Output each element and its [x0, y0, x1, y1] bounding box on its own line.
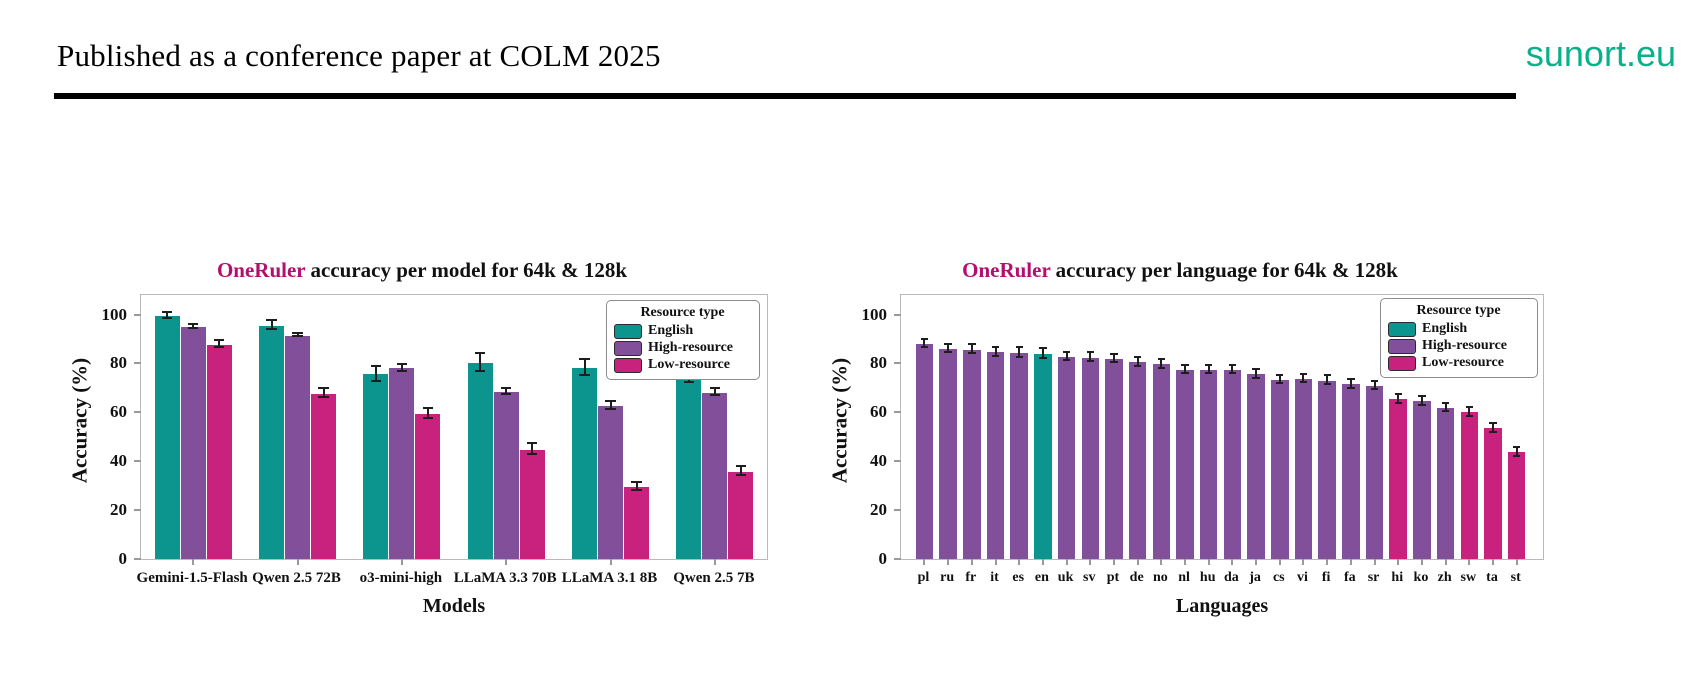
x-tick-mark	[1302, 559, 1304, 565]
error-bar-cap-bottom	[423, 417, 434, 419]
x-tick-label-language: fi	[1322, 570, 1331, 586]
bar-low-resource	[520, 450, 545, 559]
bar-lang-zh	[1437, 408, 1455, 559]
x-tick-mark	[1516, 559, 1518, 565]
y-tick-label: 20	[851, 500, 887, 520]
bar-low-resource	[624, 487, 649, 559]
header-divider	[54, 93, 1516, 99]
x-tick-label-model: Qwen 2.5 72B	[252, 570, 341, 587]
error-bar-cap-bottom	[1324, 383, 1331, 385]
x-tick-label-language: uk	[1058, 570, 1074, 586]
error-bar-cap-top	[736, 465, 747, 467]
error-bar-cap-bottom	[188, 327, 199, 329]
error-bar-cap-top	[266, 319, 277, 321]
y-tick-label: 0	[851, 549, 887, 569]
bar-lang-sv	[1082, 358, 1100, 559]
error-bar-cap-top	[710, 387, 721, 389]
x-tick-mark	[297, 559, 299, 565]
y-tick-mark	[894, 460, 901, 462]
legend-swatch-icon	[1388, 339, 1416, 354]
x-tick-mark	[1397, 559, 1399, 565]
error-bar-cap-top	[1181, 364, 1188, 366]
error-bar-cap-top	[1039, 347, 1046, 349]
x-tick-label-language: es	[1012, 570, 1024, 586]
x-tick-label-language: en	[1035, 570, 1049, 586]
x-tick-mark	[505, 559, 507, 565]
y-tick-mark	[894, 509, 901, 511]
error-bar-cap-top	[1016, 346, 1023, 348]
bar-lang-hi	[1389, 399, 1407, 559]
x-tick-label-language: zh	[1438, 570, 1452, 586]
error-bar-cap-bottom	[1395, 402, 1402, 404]
bar-lang-sr	[1366, 386, 1384, 559]
bar-lang-uk	[1058, 357, 1076, 559]
error-bar-cap-top	[1324, 374, 1331, 376]
error-bar-cap-top	[475, 352, 486, 354]
bar-lang-ru	[939, 349, 957, 559]
legend-swatch-icon	[614, 341, 642, 356]
error-bar-cap-bottom	[162, 317, 173, 319]
x-tick-label-model: Gemini-1.5-Flash	[137, 570, 248, 587]
error-bar-cap-bottom	[684, 381, 695, 383]
x-tick-label-language: ta	[1486, 570, 1498, 586]
error-bar-cap-bottom	[631, 489, 642, 491]
error-bar-cap-bottom	[1063, 359, 1070, 361]
x-tick-label-model: o3-mini-high	[360, 570, 443, 587]
error-bar-cap-bottom	[1229, 372, 1236, 374]
bar-lang-ko	[1413, 401, 1431, 559]
figure-accuracy-per-model: OneRuler accuracy per model for 64k & 12…	[52, 258, 792, 618]
x-tick-mark	[947, 559, 949, 565]
legend-title: Resource type	[1388, 303, 1529, 319]
error-bar-cap-top	[1110, 353, 1117, 355]
y-axis-title-languages: Accuracy (%)	[828, 331, 853, 511]
bar-english	[676, 376, 701, 559]
error-bar-cap-bottom	[1513, 455, 1520, 457]
bar-lang-en	[1034, 354, 1052, 559]
error-bar-cap-bottom	[1442, 410, 1449, 412]
x-tick-label-language: hu	[1200, 570, 1216, 586]
error-bar-cap-bottom	[1466, 415, 1473, 417]
legend-swatch-icon	[614, 358, 642, 373]
y-tick-label: 40	[851, 451, 887, 471]
legend-item-label: High-resource	[648, 340, 733, 356]
error-bar-cap-bottom	[605, 408, 616, 410]
error-bar-cap-bottom	[266, 328, 277, 330]
y-tick-label: 20	[91, 500, 127, 520]
error-bar-cap-top	[1300, 373, 1307, 375]
error-bar-cap-bottom	[710, 394, 721, 396]
figure-title-brand: OneRuler	[962, 258, 1050, 282]
x-tick-label-language: da	[1224, 570, 1239, 586]
y-tick-label: 80	[851, 353, 887, 373]
x-tick-label-model: LLaMA 3.1 8B	[562, 570, 657, 587]
x-tick-mark	[1255, 559, 1257, 565]
y-axis-title-models: Accuracy (%)	[68, 331, 93, 511]
bar-lang-pt	[1105, 359, 1123, 559]
bar-lang-de	[1129, 362, 1147, 559]
bar-low-resource	[207, 345, 232, 559]
bar-low-resource	[415, 414, 440, 559]
error-bar-cap-top	[1229, 364, 1236, 366]
legend-item-english[interactable]: English	[614, 323, 751, 339]
bar-high-resource	[494, 392, 519, 559]
x-tick-label-language: fa	[1344, 570, 1356, 586]
x-tick-mark	[1089, 559, 1091, 565]
bar-lang-pl	[916, 344, 934, 559]
bar-high-resource	[181, 327, 206, 559]
y-tick-mark	[894, 314, 901, 316]
legend-swatch-icon	[1388, 356, 1416, 371]
error-bar-cap-top	[214, 339, 225, 341]
y-tick-label: 60	[851, 402, 887, 422]
x-tick-label-language: hi	[1391, 570, 1403, 586]
legend-item-low-resource[interactable]: Low-resource	[1388, 355, 1529, 371]
x-tick-label-language: sr	[1368, 570, 1380, 586]
legend-item-label: Low-resource	[648, 357, 730, 373]
x-tick-mark	[1208, 559, 1210, 565]
error-bar-cap-bottom	[1039, 357, 1046, 359]
bar-english	[363, 374, 388, 559]
y-tick-mark	[134, 509, 141, 511]
legend-item-english[interactable]: English	[1388, 321, 1529, 337]
error-bar-cap-bottom	[292, 335, 303, 337]
legend-item-label: English	[1422, 321, 1467, 337]
error-bar-cap-bottom	[944, 351, 951, 353]
x-tick-mark	[971, 559, 973, 565]
bar-high-resource	[389, 368, 414, 559]
error-bar-cap-bottom	[1371, 388, 1378, 390]
y-tick-label: 60	[91, 402, 127, 422]
figure-title-rest: accuracy per model for 64k & 128k	[305, 258, 627, 282]
bar-lang-st	[1508, 452, 1526, 559]
error-bar-cap-top	[397, 363, 408, 365]
error-bar-cap-top	[1252, 368, 1259, 370]
error-bar-cap-bottom	[992, 355, 999, 357]
error-bar-cap-bottom	[475, 370, 486, 372]
x-tick-mark	[714, 559, 716, 565]
bar-lang-ja	[1247, 374, 1265, 559]
error-bar-cap-top	[1347, 378, 1354, 380]
bar-lang-cs	[1271, 380, 1289, 559]
x-tick-mark	[1113, 559, 1115, 565]
page-title: Published as a conference paper at COLM …	[57, 38, 661, 74]
x-axis-title-models: Models	[140, 595, 768, 618]
bar-low-resource	[311, 394, 336, 559]
y-tick-mark	[894, 558, 901, 560]
y-tick-mark	[894, 411, 901, 413]
figure-title-brand: OneRuler	[217, 258, 305, 282]
x-tick-label-language: de	[1130, 570, 1144, 586]
error-bar-cap-top	[1158, 358, 1165, 360]
x-tick-label-language: pt	[1107, 570, 1119, 586]
y-tick-label: 80	[91, 353, 127, 373]
bar-english	[259, 326, 284, 559]
bar-lang-sw	[1461, 412, 1479, 559]
x-tick-label-model: Qwen 2.5 7B	[673, 570, 754, 587]
x-tick-label-language: ru	[940, 570, 954, 586]
error-bar-cap-top	[944, 343, 951, 345]
y-tick-mark	[134, 314, 141, 316]
x-tick-label-language: no	[1153, 570, 1168, 586]
x-tick-mark	[610, 559, 612, 565]
bar-english	[155, 316, 180, 559]
x-tick-label-language: fr	[965, 570, 976, 586]
y-tick-mark	[134, 460, 141, 462]
legend-languages: Resource typeEnglishHigh-resourceLow-res…	[1380, 298, 1538, 378]
x-axis-title-languages: Languages	[900, 595, 1544, 618]
error-bar-cap-bottom	[1087, 360, 1094, 362]
bar-high-resource	[285, 336, 310, 559]
legend-item-label: Low-resource	[1422, 355, 1504, 371]
bar-lang-nl	[1176, 370, 1194, 559]
x-tick-mark	[192, 559, 194, 565]
error-bar-cap-top	[631, 481, 642, 483]
error-bar-cap-top	[605, 400, 616, 402]
page-header: Published as a conference paper at COLM …	[0, 0, 1704, 110]
figure-accuracy-per-language: OneRuler accuracy per language for 64k &…	[800, 258, 1560, 618]
error-bar-cap-bottom	[501, 393, 512, 395]
x-tick-mark	[401, 559, 403, 565]
bar-lang-es	[1010, 353, 1028, 559]
x-tick-mark	[1160, 559, 1162, 565]
legend-models: Resource typeEnglishHigh-resourceLow-res…	[606, 300, 760, 380]
x-tick-mark	[1018, 559, 1020, 565]
x-tick-mark	[995, 559, 997, 565]
x-tick-label-language: st	[1511, 570, 1521, 586]
error-bar-cap-top	[162, 311, 173, 313]
x-tick-mark	[1042, 559, 1044, 565]
x-tick-mark	[1468, 559, 1470, 565]
error-bar-cap-top	[1466, 406, 1473, 408]
bar-high-resource	[598, 406, 623, 559]
error-bar-cap-bottom	[1347, 387, 1354, 389]
bar-english	[572, 368, 597, 559]
legend-item-high-resource[interactable]: High-resource	[614, 340, 751, 356]
x-tick-mark	[1137, 559, 1139, 565]
error-bar-cap-top	[371, 365, 382, 367]
error-bar-cap-top	[1418, 395, 1425, 397]
error-bar-cap-top	[527, 442, 538, 444]
x-tick-mark	[1184, 559, 1186, 565]
error-bar-cap-bottom	[1489, 431, 1496, 433]
site-logo: sunort.eu	[1526, 33, 1676, 75]
error-bar-cap-top	[292, 332, 303, 334]
y-tick-mark	[894, 362, 901, 364]
x-tick-mark	[1350, 559, 1352, 565]
y-tick-label: 0	[91, 549, 127, 569]
error-bar-cap-top	[968, 343, 975, 345]
bar-english	[468, 363, 493, 559]
error-bar-cap-bottom	[1205, 372, 1212, 374]
legend-swatch-icon	[1388, 322, 1416, 337]
error-bar-cap-top	[1276, 374, 1283, 376]
x-tick-mark	[1231, 559, 1233, 565]
error-bar-cap-bottom	[1158, 367, 1165, 369]
x-tick-label-language: sv	[1083, 570, 1095, 586]
bar-lang-fi	[1318, 381, 1336, 559]
error-bar-cap-bottom	[1276, 382, 1283, 384]
legend-item-label: English	[648, 323, 693, 339]
x-tick-mark	[1374, 559, 1376, 565]
figure-title-languages: OneRuler accuracy per language for 64k &…	[800, 258, 1560, 283]
error-bar-cap-top	[188, 323, 199, 325]
error-bar-cap-bottom	[579, 374, 590, 376]
x-tick-label-language: vi	[1297, 570, 1308, 586]
error-bar-cap-bottom	[1181, 372, 1188, 374]
bar-lang-ta	[1484, 428, 1502, 559]
y-tick-mark	[134, 411, 141, 413]
error-bar-cap-bottom	[527, 453, 538, 455]
error-bar-cap-top	[1371, 380, 1378, 382]
error-bar-cap-top	[1513, 446, 1520, 448]
legend-item-low-resource[interactable]: Low-resource	[614, 357, 751, 373]
error-bar-cap-bottom	[968, 352, 975, 354]
legend-item-label: High-resource	[1422, 338, 1507, 354]
x-tick-label-model: LLaMA 3.3 70B	[454, 570, 557, 587]
x-tick-mark	[1492, 559, 1494, 565]
bar-lang-vi	[1295, 379, 1313, 559]
y-tick-mark	[134, 362, 141, 364]
error-bar-cap-bottom	[318, 396, 329, 398]
x-tick-mark	[1421, 559, 1423, 565]
error-bar-cap-top	[579, 358, 590, 360]
x-tick-mark	[923, 559, 925, 565]
y-tick-label: 40	[91, 451, 127, 471]
x-tick-mark	[1445, 559, 1447, 565]
error-bar-cap-bottom	[214, 346, 225, 348]
error-bar-cap-bottom	[1134, 365, 1141, 367]
error-bar-cap-top	[1442, 402, 1449, 404]
bar-low-resource	[728, 472, 753, 560]
legend-title: Resource type	[614, 305, 751, 321]
error-bar-cap-top	[1205, 364, 1212, 366]
bar-lang-fr	[963, 350, 981, 559]
error-bar-cap-bottom	[1418, 404, 1425, 406]
figure-title-models: OneRuler accuracy per model for 64k & 12…	[52, 258, 792, 283]
x-tick-label-language: cs	[1273, 570, 1285, 586]
legend-item-high-resource[interactable]: High-resource	[1388, 338, 1529, 354]
error-bar-cap-bottom	[736, 474, 747, 476]
bar-lang-hu	[1200, 370, 1218, 559]
error-bar-cap-top	[1063, 351, 1070, 353]
bar-lang-no	[1153, 364, 1171, 559]
figure-title-rest: accuracy per language for 64k & 128k	[1050, 258, 1397, 282]
error-bar-cap-bottom	[397, 370, 408, 372]
error-bar-cap-bottom	[1110, 361, 1117, 363]
x-tick-label-language: ja	[1249, 570, 1261, 586]
error-bar-cap-bottom	[1252, 377, 1259, 379]
error-bar-cap-top	[501, 387, 512, 389]
x-tick-label-language: pl	[918, 570, 930, 586]
bar-lang-fa	[1342, 384, 1360, 559]
error-bar-cap-top	[318, 387, 329, 389]
error-bar-cap-top	[921, 338, 928, 340]
legend-swatch-icon	[614, 324, 642, 339]
error-bar-cap-bottom	[371, 380, 382, 382]
error-bar-cap-top	[992, 346, 999, 348]
y-tick-label: 100	[851, 305, 887, 325]
error-bar-cap-top	[1087, 351, 1094, 353]
bar-lang-da	[1224, 370, 1242, 559]
x-tick-label-language: sw	[1461, 570, 1477, 586]
x-tick-label-language: it	[990, 570, 999, 586]
error-bar-cap-bottom	[1300, 381, 1307, 383]
x-tick-mark	[1326, 559, 1328, 565]
x-tick-mark	[1279, 559, 1281, 565]
y-tick-label: 100	[91, 305, 127, 325]
bar-high-resource	[702, 393, 727, 559]
error-bar-cap-bottom	[921, 346, 928, 348]
error-bar-cap-top	[423, 407, 434, 409]
x-tick-label-language: nl	[1178, 570, 1190, 586]
error-bar-cap-top	[1489, 422, 1496, 424]
error-bar-cap-top	[1395, 393, 1402, 395]
bar-lang-it	[987, 352, 1005, 559]
y-tick-mark	[134, 558, 141, 560]
error-bar-cap-bottom	[1016, 356, 1023, 358]
x-tick-label-language: ko	[1414, 570, 1429, 586]
error-bar-cap-top	[1134, 356, 1141, 358]
x-tick-mark	[1066, 559, 1068, 565]
